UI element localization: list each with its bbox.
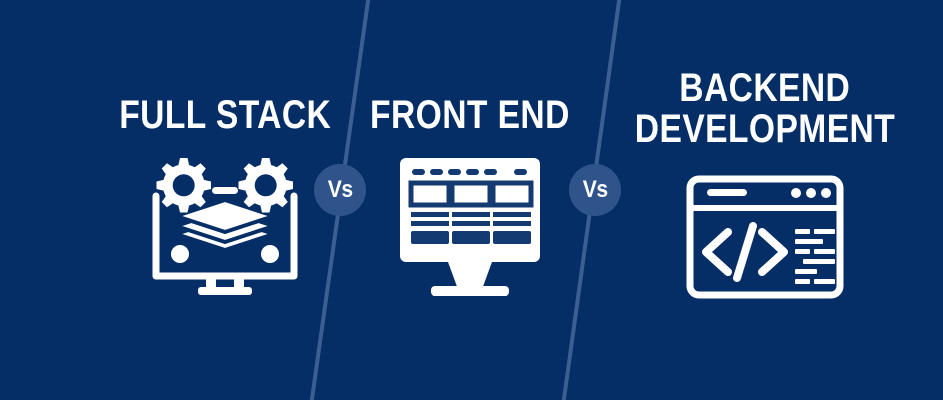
full-stack-icon: [140, 158, 310, 303]
gear-left-icon: [157, 158, 211, 213]
layers-stack: [176, 200, 274, 250]
backend-title-line-1: BACKEND: [680, 68, 851, 109]
screen-dot-left: [171, 245, 189, 263]
vs-badge-1-label: Vs: [328, 178, 353, 202]
full-stack-title: FULL STACK: [119, 95, 331, 136]
backend-icon: [685, 174, 845, 305]
vs-badge-2: Vs: [569, 164, 621, 216]
code-brackets-icon: [706, 226, 784, 278]
front-end-icon: [395, 156, 545, 301]
code-text-lines: [795, 229, 835, 284]
column-front-end: FRONT END: [355, 95, 585, 301]
gear-right-icon: [239, 158, 294, 213]
backend-title-line-2: DEVELOPMENT: [635, 109, 895, 150]
front-end-title: FRONT END: [370, 95, 570, 136]
vs-badge-2-label: Vs: [583, 178, 608, 202]
comparison-banner: FULL STACK: [0, 0, 943, 400]
vs-badge-1: Vs: [314, 164, 366, 216]
column-backend: BACKEND DEVELOPMENT: [620, 68, 910, 305]
screen-dot-right: [261, 245, 279, 263]
